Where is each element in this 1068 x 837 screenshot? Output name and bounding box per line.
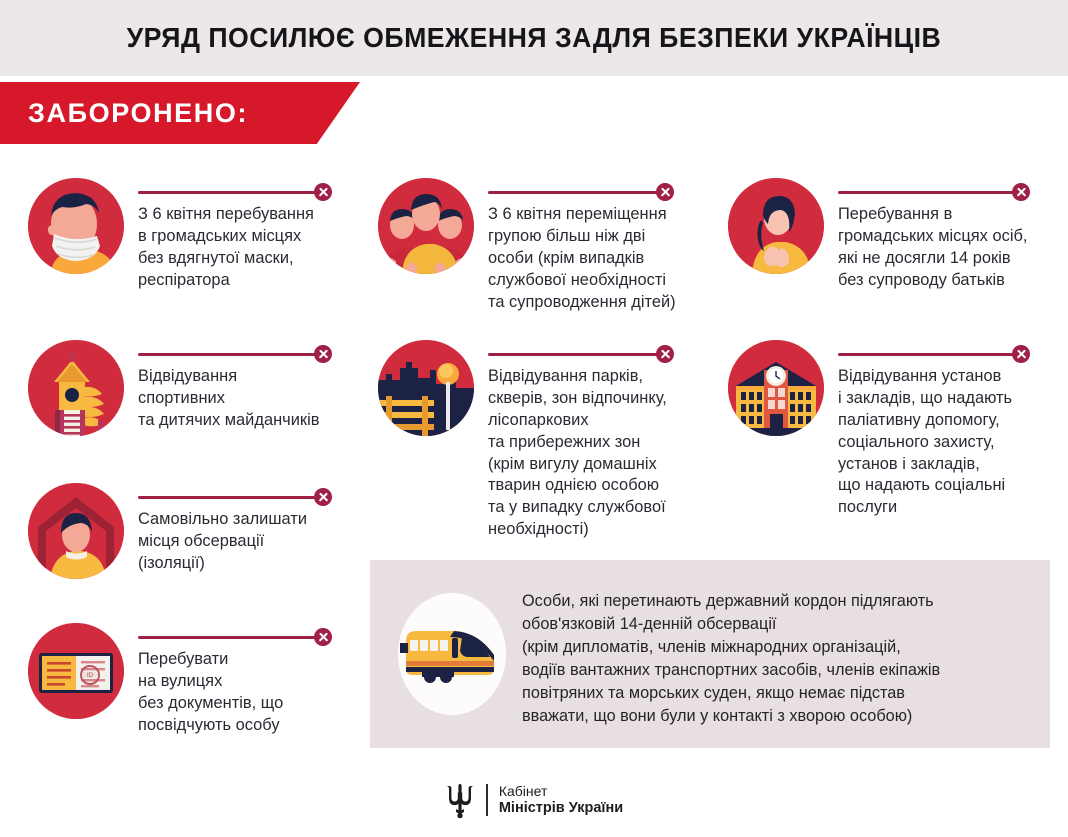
footer-line-2: Міністрів України bbox=[499, 800, 623, 817]
close-x-icon bbox=[314, 345, 332, 363]
group-of-people-icon bbox=[378, 178, 474, 274]
page-title: УРЯД ПОСИЛЮЄ ОБМЕЖЕННЯ ЗАДЛЯ БЕЗПЕКИ УКР… bbox=[127, 22, 942, 54]
rule-item-parks: Відвідування парків, скверів, зон відпоч… bbox=[378, 340, 718, 541]
rule-text: Відвідування установ і закладів, що нада… bbox=[838, 366, 1058, 519]
person-at-home-icon bbox=[28, 483, 124, 579]
rule-text: Перебувати на вулицях без документів, що… bbox=[138, 649, 358, 737]
rule-item-minors: Перебування в громадських місцях осіб, я… bbox=[728, 178, 1058, 292]
train-icon bbox=[398, 593, 506, 715]
rule-item-documents: ID Перебувати на вулицях без документів,… bbox=[28, 623, 358, 737]
institution-building-icon bbox=[728, 340, 824, 436]
playground-icon bbox=[28, 340, 124, 436]
rule-text: Відвідування спортивних та дитячих майда… bbox=[138, 366, 358, 432]
rule-text: З 6 квітня перебування в громадських міс… bbox=[138, 204, 354, 292]
infographic-page: УРЯД ПОСИЛЮЄ ОБМЕЖЕННЯ ЗАДЛЯ БЕЗПЕКИ УКР… bbox=[0, 0, 1068, 837]
rule-connector bbox=[138, 487, 358, 507]
park-bench-icon bbox=[378, 340, 474, 436]
footer-organization: Кабінет Міністрів України bbox=[499, 783, 623, 817]
rule-connector bbox=[138, 344, 358, 364]
rule-text: З 6 квітня переміщення групою більш ніж … bbox=[488, 204, 718, 313]
footer-line-1: Кабінет bbox=[499, 783, 623, 800]
rule-item-group: З 6 квітня переміщення групою більш ніж … bbox=[378, 178, 718, 313]
prohibited-banner: ЗАБОРОНЕНО: bbox=[0, 82, 360, 144]
ukraine-trident-icon bbox=[445, 781, 475, 819]
rule-item-institutions: Відвідування установ і закладів, що нада… bbox=[728, 340, 1058, 519]
close-x-icon bbox=[1012, 345, 1030, 363]
footer-divider bbox=[486, 784, 488, 816]
rule-text: Відвідування парків, скверів, зон відпоч… bbox=[488, 366, 718, 541]
rule-text: Перебування в громадських місцях осіб, я… bbox=[838, 204, 1058, 292]
rule-connector bbox=[488, 182, 718, 202]
close-x-icon bbox=[314, 488, 332, 506]
svg-text:ID: ID bbox=[87, 673, 94, 679]
prohibited-banner-label: ЗАБОРОНЕНО: bbox=[0, 98, 248, 129]
border-quarantine-text: Особи, які перетинають державний кордон … bbox=[522, 590, 1032, 728]
rule-connector bbox=[488, 344, 718, 364]
close-x-icon bbox=[656, 345, 674, 363]
rule-text: Самовільно залишати місця обсервації (із… bbox=[138, 509, 358, 575]
close-x-icon bbox=[656, 183, 674, 201]
header-band: УРЯД ПОСИЛЮЄ ОБМЕЖЕННЯ ЗАДЛЯ БЕЗПЕКИ УКР… bbox=[0, 0, 1068, 76]
close-x-icon bbox=[1012, 183, 1030, 201]
person-wearing-mask-icon bbox=[28, 178, 124, 274]
prohibited-banner-shape: ЗАБОРОНЕНО: bbox=[0, 82, 360, 144]
rule-item-observation: Самовільно залишати місця обсервації (із… bbox=[28, 483, 358, 579]
rule-connector bbox=[838, 182, 1058, 202]
rule-item-playgrounds: Відвідування спортивних та дитячих майда… bbox=[28, 340, 358, 436]
border-quarantine-panel: Особи, які перетинають державний кордон … bbox=[370, 560, 1050, 748]
footer: Кабінет Міністрів України bbox=[0, 763, 1068, 837]
child-icon bbox=[728, 178, 824, 274]
rule-connector bbox=[138, 182, 354, 202]
id-document-icon: ID bbox=[28, 623, 124, 719]
close-x-icon bbox=[314, 628, 332, 646]
rule-connector bbox=[138, 627, 358, 647]
rule-connector bbox=[838, 344, 1058, 364]
rule-item-mask: З 6 квітня перебування в громадських міс… bbox=[28, 178, 358, 292]
close-x-icon bbox=[314, 183, 332, 201]
train-icon-background bbox=[398, 593, 506, 715]
